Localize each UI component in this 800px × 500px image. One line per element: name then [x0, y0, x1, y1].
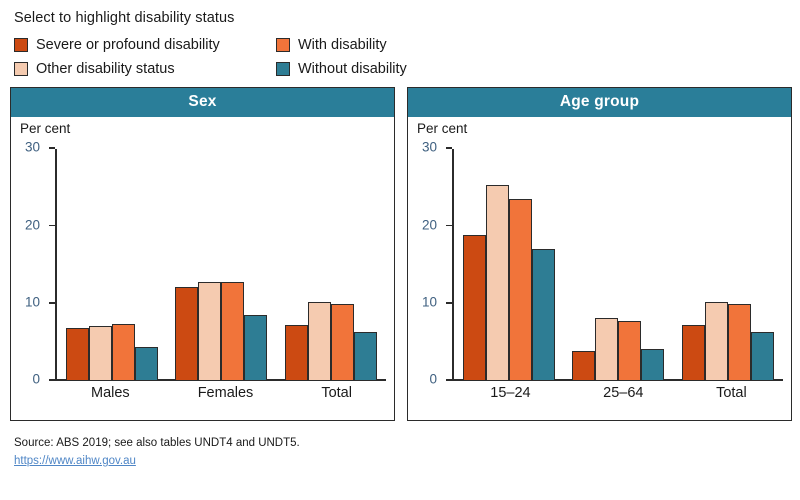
bar[interactable]	[728, 304, 751, 381]
source-note: Source: ABS 2019; see also tables UNDT4 …	[14, 435, 800, 452]
swatch-with-disability	[276, 38, 290, 52]
legend-item-label: With disability	[298, 37, 387, 53]
y-axis-tick: 0	[446, 379, 452, 381]
panel-body: Per cent 0102030 MalesFemalesTotal	[11, 117, 394, 420]
bar[interactable]	[221, 282, 244, 381]
legend-title: Select to highlight disability status	[14, 10, 800, 26]
legend-item-other-disability-status[interactable]: Other disability status	[14, 61, 276, 77]
bar[interactable]	[89, 326, 112, 381]
bar[interactable]	[532, 249, 555, 381]
source-link[interactable]: https://www.aihw.gov.au	[14, 453, 136, 470]
y-axis-tick-label: 20	[25, 217, 40, 232]
bar[interactable]	[285, 325, 308, 381]
legend-item-label: Severe or profound disability	[36, 37, 220, 53]
chart-panel-age-group: Age group Per cent 0102030 15–2425–64Tot…	[407, 87, 792, 421]
swatch-other-disability-status	[14, 62, 28, 76]
x-axis-category-labels: 15–2425–64Total	[454, 385, 783, 401]
chart-panel-sex: Sex Per cent 0102030 MalesFemalesTotal	[10, 87, 395, 421]
x-axis-category-label: Males	[91, 385, 130, 401]
bar-group	[66, 149, 158, 381]
panel-title: Age group	[408, 88, 791, 117]
x-axis-category-labels: MalesFemalesTotal	[57, 385, 386, 401]
bar[interactable]	[751, 332, 774, 381]
bar[interactable]	[308, 302, 331, 381]
chart-panels: Sex Per cent 0102030 MalesFemalesTotal A…	[0, 79, 800, 421]
bar-group	[175, 149, 267, 381]
y-axis-tick: 10	[446, 302, 452, 304]
y-axis-tick-label: 30	[25, 140, 40, 155]
x-axis-category-label: Total	[716, 385, 747, 401]
legend-item-label: Other disability status	[36, 61, 175, 77]
panel-title: Sex	[11, 88, 394, 117]
y-axis-tick-label: 0	[32, 372, 40, 387]
footer: Source: ABS 2019; see also tables UNDT4 …	[0, 421, 800, 469]
bar[interactable]	[198, 282, 221, 381]
x-axis-category-label: Females	[198, 385, 254, 401]
y-axis-unit-label: Per cent	[417, 121, 467, 136]
legend-item-without-disability[interactable]: Without disability	[276, 61, 800, 77]
bar-groups	[454, 149, 783, 381]
plot-area-age-group: 0102030	[452, 149, 783, 381]
bar[interactable]	[595, 318, 618, 381]
legend-item-label: Without disability	[298, 61, 407, 77]
bar[interactable]	[618, 321, 641, 381]
bar[interactable]	[66, 328, 89, 381]
bar-group	[285, 149, 377, 381]
bar[interactable]	[331, 304, 354, 381]
legend-item-with-disability[interactable]: With disability	[276, 37, 800, 53]
legend-item-severe-or-profound-disability[interactable]: Severe or profound disability	[14, 37, 276, 53]
bar[interactable]	[175, 287, 198, 381]
y-axis-tick: 30	[446, 147, 452, 149]
legend-items: Severe or profound disability With disab…	[14, 34, 800, 79]
swatch-without-disability	[276, 62, 290, 76]
y-axis-tick-label: 10	[25, 295, 40, 310]
bar[interactable]	[112, 324, 135, 381]
y-axis-tick-label: 20	[422, 217, 437, 232]
bar[interactable]	[509, 199, 532, 381]
bar[interactable]	[572, 351, 595, 381]
bar[interactable]	[244, 315, 267, 382]
bar[interactable]	[135, 347, 158, 381]
y-axis-tick: 0	[49, 379, 55, 381]
y-axis-tick-label: 10	[422, 295, 437, 310]
y-axis-tick: 20	[49, 225, 55, 227]
bar-group	[682, 149, 774, 381]
bar[interactable]	[682, 325, 705, 381]
y-axis-tick: 30	[49, 147, 55, 149]
panel-body: Per cent 0102030 15–2425–64Total	[408, 117, 791, 420]
legend-block: Select to highlight disability status Se…	[0, 0, 800, 79]
bar[interactable]	[641, 349, 664, 381]
bar[interactable]	[354, 332, 377, 381]
x-axis-category-label: Total	[321, 385, 352, 401]
y-axis-unit-label: Per cent	[20, 121, 70, 136]
y-axis-tick-label: 30	[422, 140, 437, 155]
bar-group	[463, 149, 555, 381]
bar[interactable]	[463, 235, 486, 381]
bar[interactable]	[486, 185, 509, 381]
y-axis-tick: 10	[49, 302, 55, 304]
bar-groups	[57, 149, 386, 381]
bar-group	[572, 149, 664, 381]
y-axis-tick: 20	[446, 225, 452, 227]
x-axis-category-label: 25–64	[603, 385, 643, 401]
swatch-severe-or-profound-disability	[14, 38, 28, 52]
y-axis-tick-label: 0	[429, 372, 437, 387]
plot-area-sex: 0102030	[55, 149, 386, 381]
bar[interactable]	[705, 302, 728, 381]
x-axis-category-label: 15–24	[490, 385, 530, 401]
